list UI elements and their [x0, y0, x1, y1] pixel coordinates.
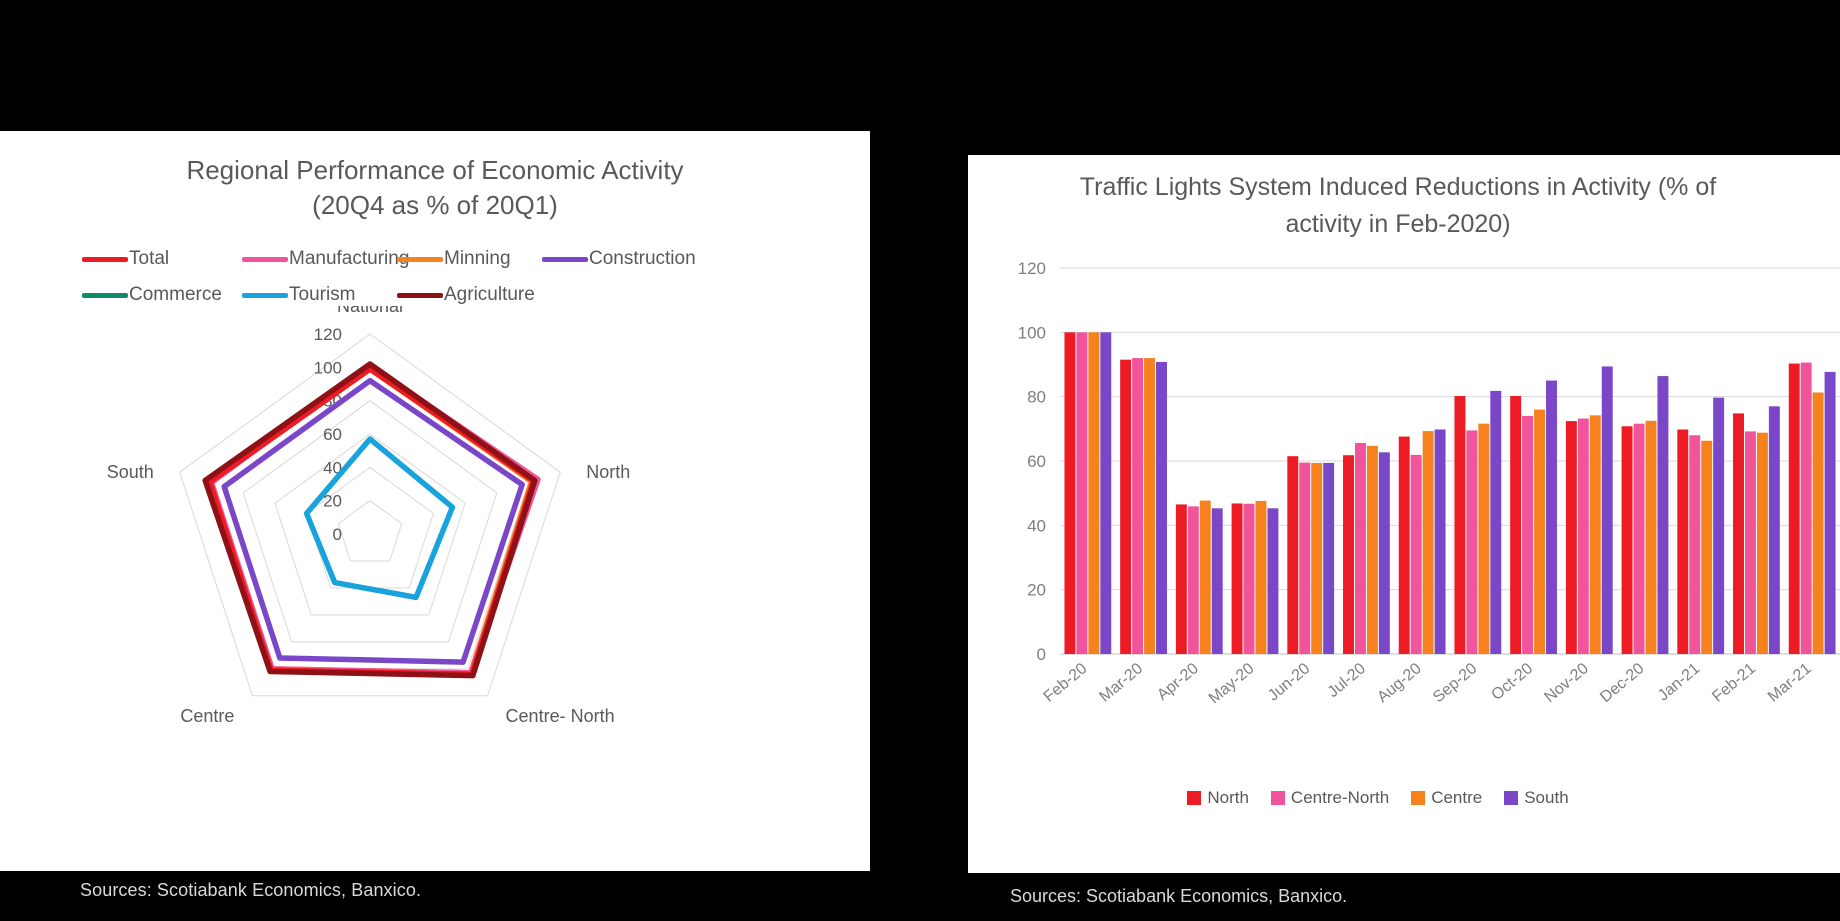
- bar-feb-20-centre-north: [1076, 332, 1087, 654]
- bar-oct-20-centre: [1534, 410, 1545, 654]
- radar-tick-120: 120: [314, 325, 342, 344]
- bar-legend-label-south: South: [1524, 788, 1568, 808]
- bar-mar-20-centre: [1144, 358, 1155, 654]
- radar-title-line-2: (20Q4 as % of 20Q1): [40, 188, 830, 223]
- radar-legend-item-total[interactable]: Total: [82, 248, 242, 270]
- bar-dec-20-north: [1622, 426, 1633, 654]
- bar-legend-label-centre: Centre: [1431, 788, 1482, 808]
- bar-jun-20-centre-north: [1299, 463, 1310, 654]
- bar-apr-20-south: [1212, 508, 1223, 654]
- radar-category-centre-north: Centre- North: [506, 706, 615, 726]
- bar-mar-21-centre: [1813, 392, 1824, 654]
- bar-jul-20-south: [1379, 452, 1390, 654]
- bar-legend-label-centre-north: Centre-North: [1291, 788, 1389, 808]
- bar-sep-20-north: [1454, 396, 1465, 654]
- bar-feb-21-south: [1769, 406, 1780, 654]
- bar-jan-21-north: [1677, 429, 1688, 654]
- bar-legend: North Centre-North Centre South: [968, 788, 1788, 808]
- bar-feb-20-south: [1100, 332, 1111, 654]
- bar-oct-20-centre-north: [1522, 416, 1533, 654]
- legend-swatch-tourism: [242, 293, 288, 298]
- radar-legend: Total Manufacturing Minning Construction: [82, 241, 782, 313]
- bar-chart-title: Traffic Lights System Induced Reductions…: [998, 169, 1798, 243]
- bar-jul-20-north: [1343, 455, 1354, 654]
- radar-category-north: North: [586, 462, 630, 482]
- bar-xtick-jun-20: Jun-20: [1265, 660, 1313, 705]
- bar-xtick-apr-20: Apr-20: [1154, 660, 1202, 704]
- bar-sep-20-centre: [1478, 424, 1489, 654]
- radar-tick-60: 60: [323, 425, 342, 444]
- bar-chart-panel: Traffic Lights System Induced Reductions…: [968, 155, 1840, 873]
- bar-nov-20-centre-north: [1578, 419, 1589, 654]
- bar-ytick-20: 20: [1027, 581, 1046, 600]
- legend-swatch-commerce: [82, 293, 128, 298]
- radar-legend-label-construction: Construction: [588, 248, 696, 270]
- bar-apr-20-centre-north: [1188, 506, 1199, 654]
- bar-jun-20-south: [1323, 463, 1334, 654]
- legend-swatch-centre: [1411, 791, 1425, 805]
- radar-legend-item-tourism[interactable]: Tourism: [242, 284, 397, 306]
- bar-ytick-80: 80: [1027, 388, 1046, 407]
- radar-legend-item-manufacturing[interactable]: Manufacturing: [242, 248, 397, 270]
- bar-feb-20-centre: [1088, 332, 1099, 654]
- bar-xtick-jul-20: Jul-20: [1325, 660, 1369, 701]
- bar-oct-20-south: [1546, 381, 1557, 654]
- radar-svg: 020406080100120NationalNorthCentre- Nort…: [0, 306, 870, 776]
- legend-swatch-total: [82, 257, 128, 262]
- bar-xtick-feb-20: Feb-20: [1041, 660, 1091, 706]
- radar-category-south: South: [107, 462, 154, 482]
- bar-dec-20-south: [1657, 376, 1668, 654]
- radar-legend-label-agriculture: Agriculture: [443, 284, 535, 306]
- radar-legend-label-total: Total: [128, 248, 169, 270]
- legend-swatch-minning: [397, 257, 443, 262]
- bar-xtick-mar-20: Mar-20: [1096, 660, 1146, 706]
- bar-legend-item-south[interactable]: South: [1504, 788, 1568, 808]
- bar-oct-20-north: [1510, 396, 1521, 654]
- legend-swatch-south: [1504, 791, 1518, 805]
- bar-mar-21-north: [1789, 364, 1800, 654]
- bar-mar-20-south: [1156, 362, 1167, 654]
- bar-may-20-south: [1267, 508, 1278, 654]
- bar-mar-20-centre-north: [1132, 358, 1143, 654]
- bar-jun-20-centre: [1311, 463, 1322, 654]
- bar-xtick-mar-21: Mar-21: [1765, 660, 1815, 706]
- bar-nov-20-north: [1566, 421, 1577, 654]
- radar-chart-panel: Regional Performance of Economic Activit…: [0, 131, 870, 871]
- bar-ytick-120: 120: [1018, 259, 1046, 278]
- radar-series-construction: [224, 381, 522, 662]
- bar-mar-20-north: [1120, 360, 1131, 654]
- bar-xtick-oct-20: Oct-20: [1488, 660, 1536, 704]
- legend-swatch-north: [1187, 791, 1201, 805]
- bar-dec-20-centre: [1646, 421, 1657, 654]
- radar-legend-label-commerce: Commerce: [128, 284, 222, 306]
- bar-legend-item-centre[interactable]: Centre: [1411, 788, 1482, 808]
- bar-xtick-jan-21: Jan-21: [1655, 660, 1703, 705]
- radar-series-agriculture: [205, 364, 535, 676]
- left-source-note: Sources: Scotiabank Economics, Banxico.: [80, 880, 421, 901]
- radar-category-national: National: [337, 306, 403, 316]
- bar-title-line-1: Traffic Lights System Induced Reductions…: [998, 169, 1798, 206]
- radar-chart-title: Regional Performance of Economic Activit…: [40, 153, 830, 223]
- bar-xtick-dec-20: Dec-20: [1597, 660, 1648, 706]
- bar-legend-item-north[interactable]: North: [1187, 788, 1249, 808]
- legend-swatch-manufacturing: [242, 257, 288, 262]
- bar-jul-20-centre-north: [1355, 443, 1366, 654]
- bar-ytick-100: 100: [1018, 323, 1046, 342]
- bar-aug-20-centre: [1423, 431, 1434, 654]
- bar-jul-20-centre: [1367, 446, 1378, 654]
- bar-aug-20-north: [1399, 437, 1410, 654]
- bar-nov-20-south: [1602, 366, 1613, 654]
- radar-title-line-1: Regional Performance of Economic Activit…: [40, 153, 830, 188]
- radar-legend-label-manufacturing: Manufacturing: [288, 248, 409, 270]
- bar-dec-20-centre-north: [1634, 424, 1645, 654]
- bar-aug-20-south: [1435, 429, 1446, 654]
- legend-swatch-construction: [542, 257, 588, 262]
- bar-xtick-nov-20: Nov-20: [1541, 660, 1592, 706]
- bar-ytick-0: 0: [1037, 645, 1046, 664]
- radar-legend-row-1: Total Manufacturing Minning Construction: [82, 241, 782, 277]
- bar-sep-20-south: [1490, 391, 1501, 654]
- bar-svg: 020406080100120Feb-20Mar-20Apr-20May-20J…: [968, 250, 1840, 740]
- bar-jan-21-centre: [1701, 441, 1712, 654]
- bar-jun-20-north: [1287, 456, 1298, 654]
- radar-legend-label-minning: Minning: [443, 248, 511, 270]
- bar-xtick-may-20: May-20: [1206, 660, 1258, 707]
- bar-jan-21-centre-north: [1689, 435, 1700, 654]
- bar-ytick-40: 40: [1027, 516, 1046, 535]
- bar-legend-label-north: North: [1207, 788, 1249, 808]
- bar-plot-area: 020406080100120Feb-20Mar-20Apr-20May-20J…: [968, 250, 1840, 740]
- bar-ytick-60: 60: [1027, 452, 1046, 471]
- radar-legend-item-commerce[interactable]: Commerce: [82, 284, 242, 306]
- bar-feb-21-centre-north: [1745, 431, 1756, 654]
- bar-legend-item-centre-north[interactable]: Centre-North: [1271, 788, 1389, 808]
- right-source-note: Sources: Scotiabank Economics, Banxico.: [1010, 886, 1347, 907]
- bar-may-20-centre-north: [1244, 504, 1255, 654]
- radar-plot-area: 020406080100120NationalNorthCentre- Nort…: [0, 306, 870, 776]
- bar-may-20-north: [1232, 503, 1243, 654]
- radar-legend-item-construction[interactable]: Construction: [542, 248, 696, 270]
- bar-apr-20-north: [1176, 504, 1187, 654]
- bar-may-20-centre: [1256, 501, 1267, 654]
- radar-tick-0: 0: [333, 525, 342, 544]
- radar-legend-label-tourism: Tourism: [288, 284, 356, 306]
- bar-aug-20-centre-north: [1411, 455, 1422, 654]
- bar-xtick-sep-20: Sep-20: [1430, 660, 1481, 706]
- radar-legend-item-minning[interactable]: Minning: [397, 248, 542, 270]
- legend-swatch-agriculture: [397, 293, 443, 298]
- radar-tick-100: 100: [314, 358, 342, 377]
- bar-feb-21-centre: [1757, 433, 1768, 654]
- legend-swatch-centre-north: [1271, 791, 1285, 805]
- bar-jan-21-south: [1713, 398, 1724, 654]
- bar-mar-21-centre-north: [1801, 363, 1812, 654]
- bar-sep-20-centre-north: [1466, 430, 1477, 654]
- bar-feb-20-north: [1064, 332, 1075, 654]
- bar-feb-21-north: [1733, 413, 1744, 654]
- bar-nov-20-centre: [1590, 415, 1601, 654]
- radar-category-centre: Centre: [180, 706, 234, 726]
- bar-apr-20-centre: [1200, 501, 1211, 654]
- bar-xtick-aug-20: Aug-20: [1374, 660, 1425, 706]
- bar-title-line-2: activity in Feb-2020): [998, 206, 1798, 243]
- radar-legend-item-agriculture[interactable]: Agriculture: [397, 284, 535, 306]
- bar-xtick-feb-21: Feb-21: [1709, 660, 1759, 706]
- bar-mar-21-south: [1825, 372, 1836, 654]
- slide-canvas: Regional Performance of Economic Activit…: [0, 0, 1840, 921]
